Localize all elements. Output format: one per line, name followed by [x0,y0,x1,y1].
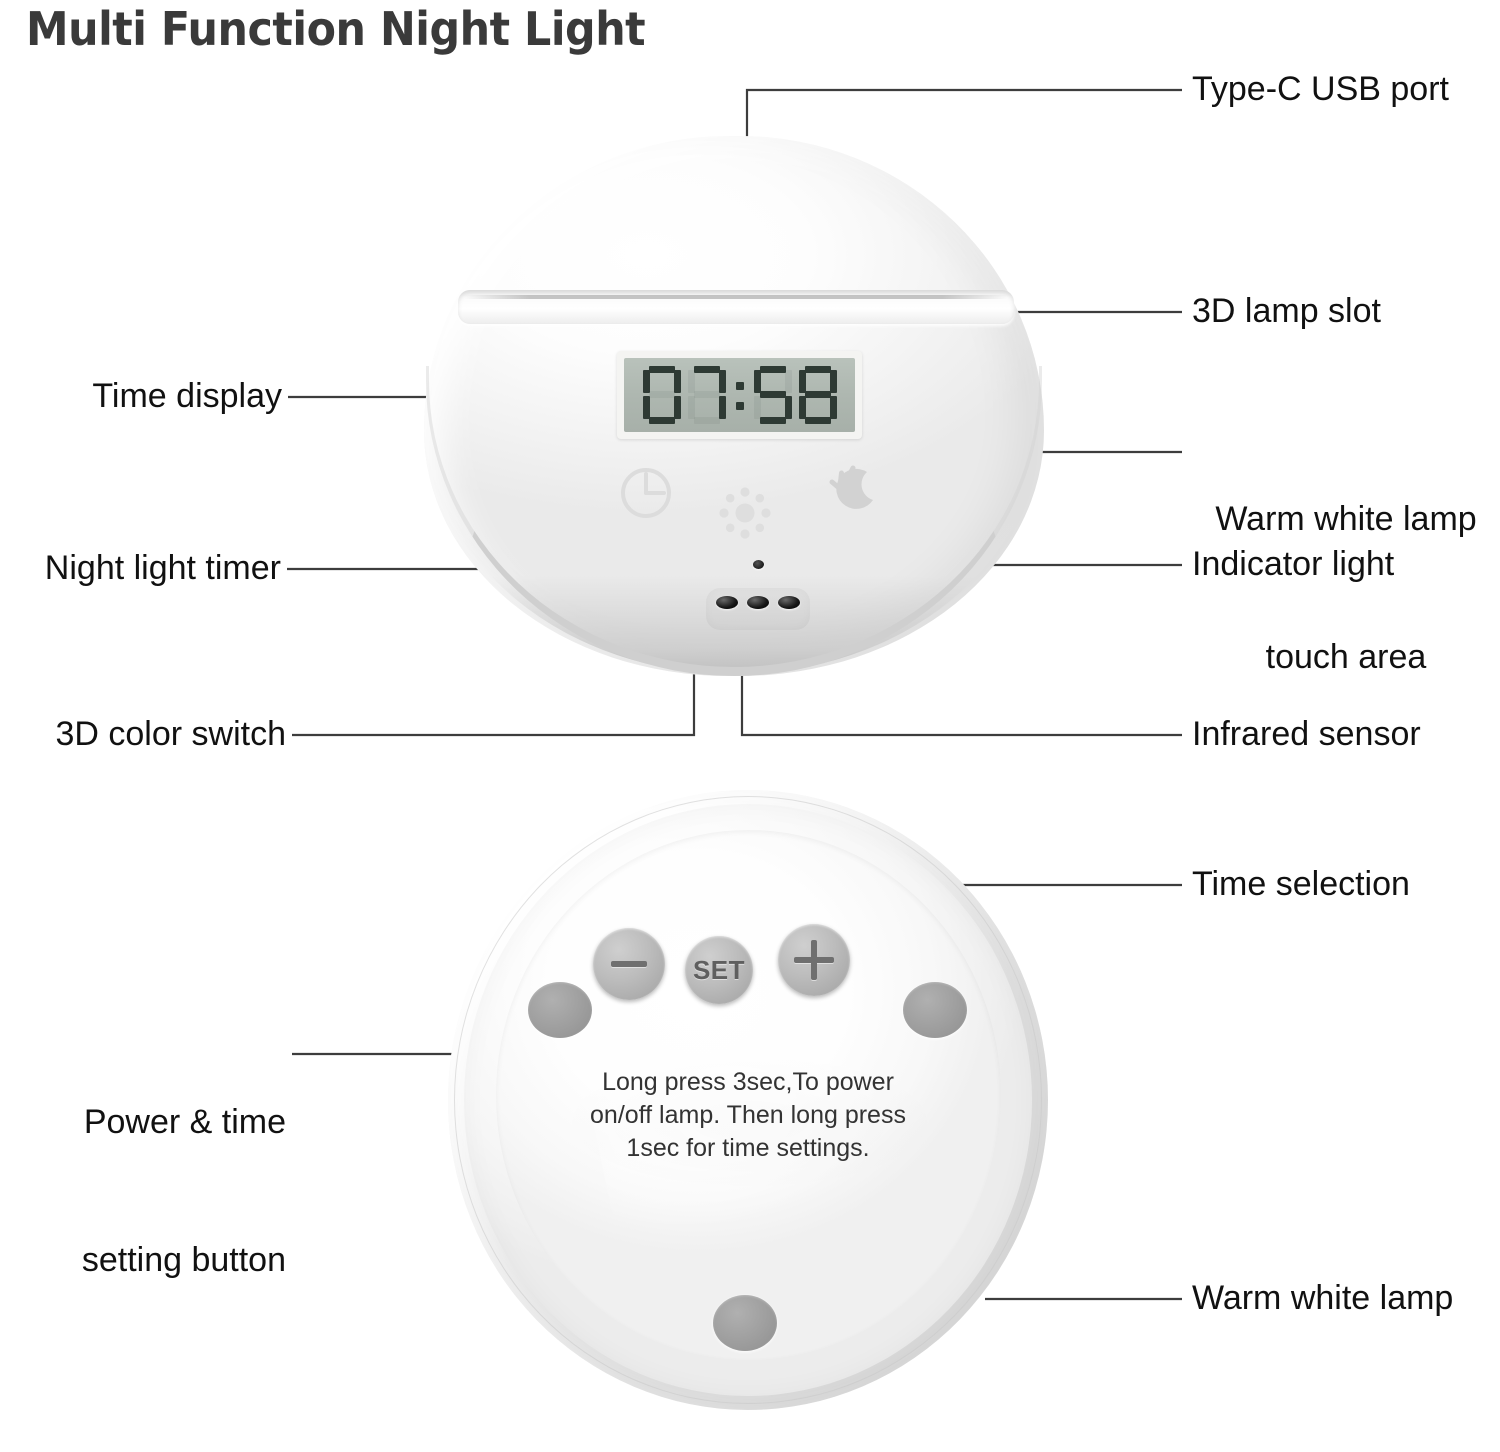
lcd-screen [624,358,855,432]
label-power-time-setting-button: Power & time setting button [0,1007,286,1375]
plus-button[interactable] [778,924,850,996]
label-indicator-light: Indicator light [1192,541,1394,587]
lcd-digit-3 [754,366,792,424]
label-power-time-line2: setting button [0,1237,286,1283]
product-diagram: Multi Function Night Light [0,0,1500,1452]
lcd-time-value [643,366,837,424]
label-type-c-usb-port: Type-C USB port [1192,66,1449,112]
night-light-bottom-view: SET Long press 3sec,To power on/off lamp… [448,790,1048,1410]
lcd-digit-4 [799,366,837,424]
label-time-selection: Time selection [1192,861,1410,907]
rubber-foot-bottom [713,1295,777,1351]
label-warm-white-touch-line1: Warm white lamp [1192,496,1500,542]
minus-button[interactable] [593,928,665,1000]
page-title: Multi Function Night Light [26,2,645,56]
label-night-light-timer: Night light timer [0,545,281,591]
label-time-display: Time display [0,373,282,419]
rubber-foot-right [903,982,967,1038]
time-display-bezel [617,351,862,439]
label-3d-color-switch: 3D color switch [0,711,286,757]
label-3d-lamp-slot: 3D lamp slot [1192,288,1381,334]
label-warm-white-touch-line2: touch area [1192,634,1500,680]
set-button-label: SET [693,955,745,986]
lcd-colon [733,366,747,424]
infrared-sensor-dots-icon [716,596,800,630]
label-infrared-sensor: Infrared sensor [1192,711,1421,757]
clock-timer-icon[interactable] [619,466,673,520]
night-light-top-view [424,136,1044,676]
lcd-digit-1 [643,366,681,424]
rubber-foot-left [528,982,592,1038]
minus-icon [611,961,647,967]
moon-icon[interactable] [822,458,884,520]
lcd-digit-2 [688,366,726,424]
3d-lamp-slot-groove [464,295,1008,299]
instruction-text: Long press 3sec,To power on/off lamp. Th… [538,1066,958,1165]
plus-icon [794,940,834,980]
label-power-time-line1: Power & time [0,1099,286,1145]
leader-type-c-usb-port [747,90,1182,140]
label-warm-white-lamp: Warm white lamp [1192,1275,1453,1321]
set-button[interactable]: SET [685,936,753,1004]
brightness-sun-icon[interactable] [716,484,774,542]
indicator-light-icon [753,560,764,569]
